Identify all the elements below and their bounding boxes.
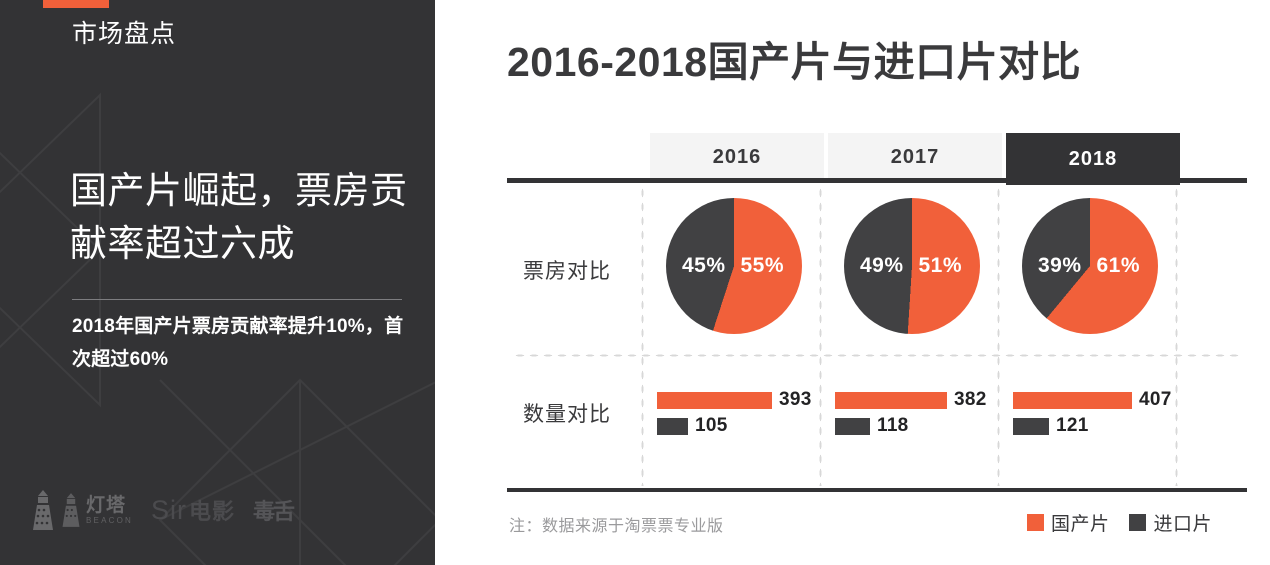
pie-chart-2018: 61% 39% — [1022, 198, 1158, 334]
bar-value-imported-2016: 105 — [695, 415, 728, 437]
bottom-rule — [507, 488, 1247, 492]
pie-chart-2017: 51% 49% — [844, 198, 980, 334]
pie-label-imported-2018: 39% — [1038, 254, 1082, 278]
beacon-text: 灯塔 BEACON — [86, 496, 133, 525]
beacon-en-label: BEACON — [86, 517, 133, 525]
bar-value-domestic-2018: 407 — [1139, 389, 1172, 411]
row-label-quantity: 数量对比 — [523, 398, 611, 428]
beacon-cn-label: 灯塔 — [86, 496, 133, 515]
pie-label-domestic-2017: 51% — [918, 254, 962, 278]
row-label-boxoffice: 票房对比 — [523, 255, 611, 285]
sub-copy: 2018年国产片票房贡献率提升10%，首次超过60% — [72, 311, 412, 376]
slide-root: 市场盘点 国产片崛起，票房贡献率超过六成 2018年国产片票房贡献率提升10%，… — [0, 0, 1270, 565]
legend-item-domestic: 国产片 — [1027, 509, 1110, 536]
pie-label-domestic-2018: 61% — [1096, 254, 1140, 278]
bar-domestic-2018 — [1013, 392, 1132, 409]
chart-panel: 2016-2018国产片与进口片对比 2016 2017 2018 票房对比 数… — [435, 0, 1270, 565]
bar-cell-2016: 393 105 — [657, 390, 847, 450]
bar-domestic-2016 — [657, 392, 772, 409]
bar-value-domestic-2017: 382 — [954, 389, 987, 411]
top-rule — [507, 178, 1247, 183]
pie-cell-2018: 61% 39% — [1003, 198, 1177, 340]
divider-rule — [72, 299, 402, 300]
bar-row-domestic-2017: 382 — [835, 390, 1025, 410]
dotted-col-separator-1 — [641, 186, 644, 486]
watermark-logos: 灯塔 BEACON Sir 电影 毒舌 — [30, 489, 293, 531]
bar-row-imported-2018: 121 — [1013, 416, 1203, 436]
bar-row-imported-2017: 118 — [835, 416, 1025, 436]
headline: 国产片崛起，票房贡献率超过六成 — [70, 165, 420, 270]
sir-movie-logo: Sir 电影 — [151, 494, 235, 526]
tab-2017[interactable]: 2017 — [828, 133, 1002, 181]
left-panel: 市场盘点 国产片崛起，票房贡献率超过六成 2018年国产片票房贡献率提升10%，… — [0, 0, 435, 565]
pie-cell-2017: 51% 49% — [825, 198, 999, 340]
lighthouse-icon — [30, 489, 56, 531]
bar-row-domestic-2018: 407 — [1013, 390, 1203, 410]
legend-swatch-domestic — [1027, 514, 1044, 531]
pie-cell-2016: 55% 45% — [647, 198, 821, 340]
bar-value-domestic-2016: 393 — [779, 389, 812, 411]
bar-row-imported-2016: 105 — [657, 416, 847, 436]
footnote: 注：数据来源于淘票票专业版 — [509, 512, 724, 536]
tab-2016[interactable]: 2016 — [650, 133, 824, 181]
bar-value-imported-2017: 118 — [877, 415, 909, 437]
accent-bar — [43, 0, 109, 8]
legend-label-domestic: 国产片 — [1051, 509, 1110, 536]
beacon-logo: 灯塔 BEACON — [30, 489, 133, 531]
bar-domestic-2017 — [835, 392, 947, 409]
legend: 国产片 进口片 — [1027, 509, 1212, 536]
bar-row-domestic-2016: 393 — [657, 390, 847, 410]
bar-value-imported-2018: 121 — [1056, 415, 1089, 437]
background-decoration — [0, 0, 435, 565]
lighthouse-icon-secondary — [60, 492, 82, 528]
pie-label-imported-2017: 49% — [860, 254, 904, 278]
pie-label-domestic-2016: 55% — [740, 254, 784, 278]
chart-title: 2016-2018国产片与进口片对比 — [507, 28, 1081, 88]
bar-imported-2018 — [1013, 418, 1049, 435]
bar-imported-2017 — [835, 418, 870, 435]
bar-cell-2017: 382 118 — [835, 390, 1025, 450]
sir-logo-cn: 电影 — [189, 494, 235, 526]
dushe-logo: 毒舌 — [253, 494, 293, 526]
legend-swatch-imported — [1129, 514, 1146, 531]
year-tab-bar: 2016 2017 2018 — [650, 133, 1180, 181]
legend-item-imported: 进口片 — [1129, 509, 1212, 536]
pie-chart-2016: 55% 45% — [666, 198, 802, 334]
bar-cell-2018: 407 121 — [1013, 390, 1203, 450]
legend-label-imported: 进口片 — [1153, 509, 1212, 536]
bar-imported-2016 — [657, 418, 688, 435]
kicker-title: 市场盘点 — [72, 14, 176, 50]
pie-label-imported-2016: 45% — [682, 254, 726, 278]
dotted-row-separator — [513, 354, 1243, 357]
sir-logo-text: Sir — [151, 495, 187, 526]
